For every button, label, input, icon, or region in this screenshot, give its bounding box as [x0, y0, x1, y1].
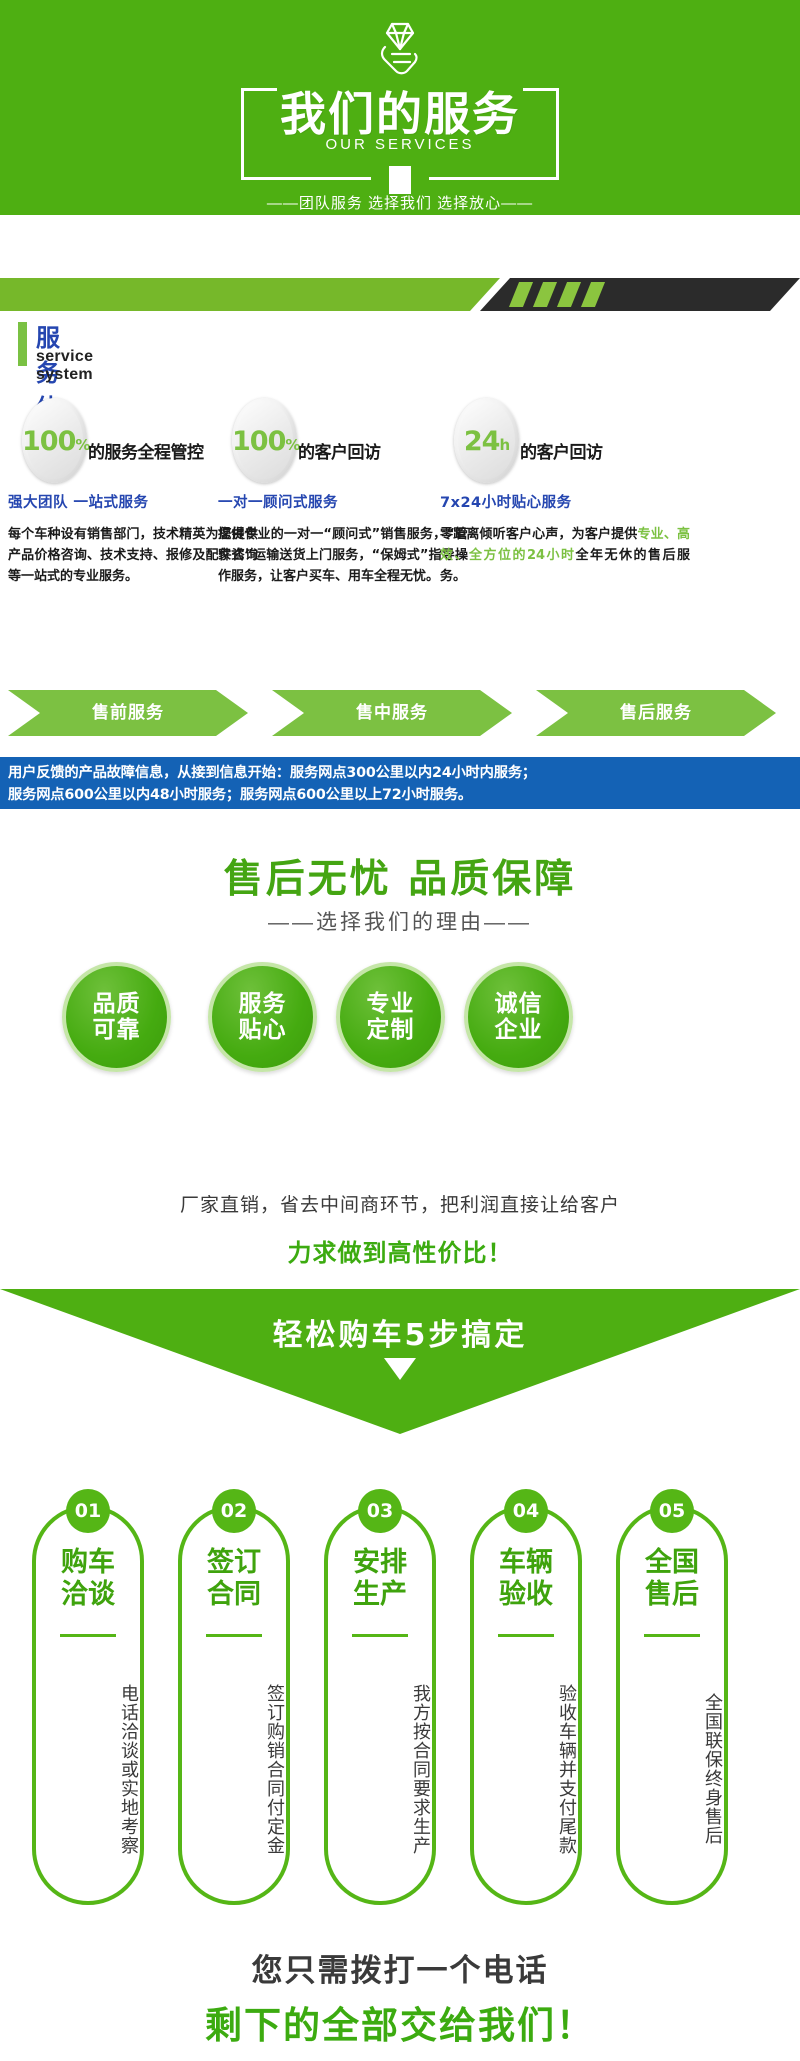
service-column: 24h 的客户回访 7x24小时贴心服务 零距离倾听客户心声，为客户提供专业、高…	[440, 398, 690, 587]
reason-badge: 专业定制	[336, 962, 445, 1072]
hero-title: 我们的服务	[280, 78, 520, 144]
step-description: 全国联保终身售后	[620, 1649, 724, 1889]
service-system-title-en: service system	[36, 348, 93, 384]
step-card: 05 全国售后 全国联保终身售后	[616, 1505, 728, 1905]
process-banner-title: 轻松购车5步搞定	[0, 1310, 800, 1354]
step-number: 03	[358, 1489, 402, 1533]
reason-badge: 诚信企业	[464, 962, 573, 1072]
step-title: 签订合同	[182, 1547, 286, 1611]
band-dark-shape	[480, 278, 800, 311]
badge-oval: 24h	[454, 398, 519, 483]
badge-number: 24h	[454, 426, 519, 457]
phase-arrow-midsale[interactable]: 售中服务	[272, 690, 512, 736]
commitment-line-1: 用户反馈的产品故障信息，从接到信息开始：服务网点300公里以内24小时内服务；	[8, 762, 792, 784]
heading-accent-bar	[18, 322, 27, 366]
reason-badge: 服务贴心	[208, 962, 317, 1072]
step-divider	[644, 1634, 700, 1637]
step-description: 验收车辆并支付尾款	[474, 1649, 578, 1889]
badge-oval: 100%	[22, 398, 87, 483]
commitment-line-2: 服务网点600公里以内48小时服务；服务网点600公里以上72小时服务。	[8, 784, 792, 806]
hero-tagline: ——团队服务 选择我们 选择放心——	[0, 192, 800, 213]
step-divider	[60, 1634, 116, 1637]
reason-badges: 品质可靠 服务贴心 专业定制 诚信企业	[0, 962, 800, 1082]
step-number: 02	[212, 1489, 256, 1533]
hero-subtitle: OUR SERVICES	[325, 136, 474, 153]
phase-arrow-presale[interactable]: 售前服务	[8, 690, 248, 736]
badge-label: 的服务全程管控	[88, 438, 204, 463]
section-decor-band	[0, 278, 800, 311]
badge-label: 的客户回访	[520, 438, 603, 463]
direct-sales-note: 厂家直销，省去中间商环节，把利润直接让给客户	[0, 1190, 800, 1217]
badge-number: 100%	[22, 426, 87, 457]
body-highlight-2: 24小时	[527, 548, 576, 563]
step-title: 车辆验收	[474, 1547, 578, 1611]
badge-row: 100% 的客户回访	[218, 398, 468, 483]
service-commitment-banner: 用户反馈的产品故障信息，从接到信息开始：服务网点300公里以内24小时内服务； …	[0, 757, 800, 809]
value-slogan: 力求做到高性价比！	[0, 1233, 800, 1268]
body-pre: 零距离倾听客户心声，为客户提供	[440, 527, 637, 542]
column-body: 零距离倾听客户心声，为客户提供专业、高效、全方位的24小时全年无休的售后服务。	[440, 524, 690, 587]
step-description: 签订购销合同付定金	[182, 1649, 286, 1889]
hero-banner: 我们的服务 OUR SERVICES ——团队服务 选择我们 选择放心——	[0, 0, 800, 215]
badge-label: 的客户回访	[298, 438, 381, 463]
step-card: 01 购车洽谈 电话洽谈或实地考察	[32, 1505, 144, 1905]
footer-line-1: 您只需拨打一个电话	[0, 1945, 800, 1990]
column-body: 提供专业的一对一“顾问式”销售服务，“管家式”运输送货上门服务，“保姆式”指导操…	[218, 524, 468, 587]
step-number: 01	[66, 1489, 110, 1533]
purchase-steps: 01 购车洽谈 电话洽谈或实地考察 02 签订合同 签订购销合同付定金 03 安…	[0, 1505, 800, 1915]
step-divider	[498, 1634, 554, 1637]
step-title: 购车洽谈	[36, 1547, 140, 1611]
step-number: 05	[650, 1489, 694, 1533]
step-description: 电话洽谈或实地考察	[36, 1649, 140, 1889]
badge-row: 24h 的客户回访	[440, 398, 690, 483]
step-title: 安排生产	[328, 1547, 432, 1611]
step-divider	[352, 1634, 408, 1637]
phase-arrow-aftersale[interactable]: 售后服务	[536, 690, 776, 736]
badge-number: 100%	[232, 426, 297, 457]
hero-title-frame: 我们的服务 OUR SERVICES	[241, 88, 559, 180]
column-heading: 7x24小时贴心服务	[440, 491, 690, 512]
step-number: 04	[504, 1489, 548, 1533]
band-green-shape	[0, 278, 500, 311]
down-triangle-icon	[384, 1358, 416, 1380]
step-description: 我方按合同要求生产	[328, 1649, 432, 1889]
badge-oval: 100%	[232, 398, 297, 483]
service-phase-arrows: 售前服务 售中服务 售后服务	[8, 690, 792, 736]
step-title: 全国售后	[620, 1547, 724, 1611]
reasons-subheadline: ——选择我们的理由——	[0, 906, 800, 936]
step-card: 04 车辆验收 验收车辆并支付尾款	[470, 1505, 582, 1905]
diamond-hand-icon	[372, 18, 428, 85]
step-divider	[206, 1634, 262, 1637]
reasons-headline: 售后无忧 品质保障	[0, 848, 800, 904]
column-heading: 一对一顾问式服务	[218, 491, 468, 512]
footer-line-2: 剩下的全部交给我们！	[0, 1995, 800, 2049]
reason-badge: 品质可靠	[62, 962, 171, 1072]
step-card: 03 安排生产 我方按合同要求生产	[324, 1505, 436, 1905]
step-card: 02 签订合同 签订购销合同付定金	[178, 1505, 290, 1905]
service-column: 100% 的客户回访 一对一顾问式服务 提供专业的一对一“顾问式”销售服务，“管…	[218, 398, 468, 587]
